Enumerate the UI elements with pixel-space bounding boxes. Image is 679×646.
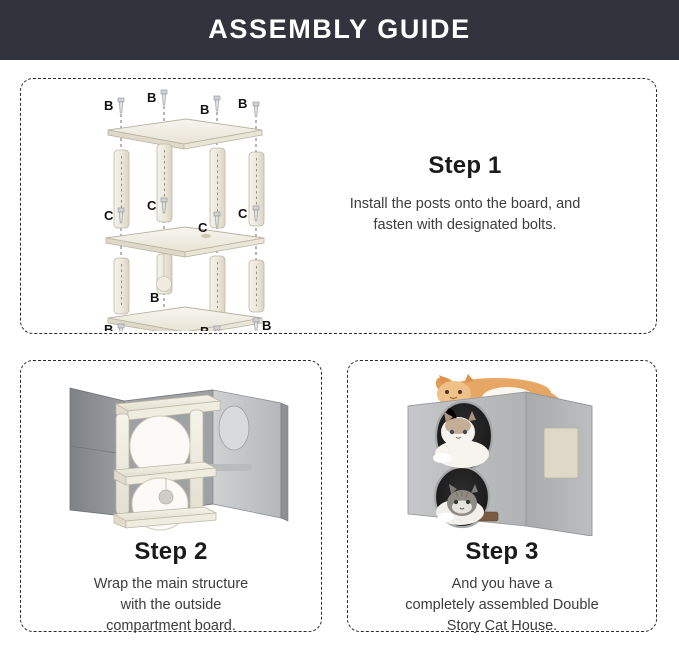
- page-title: ASSEMBLY GUIDE: [208, 14, 470, 45]
- step-1-title: Step 1: [300, 152, 630, 180]
- step-2-caption: Step 2 Wrap the main structure with the …: [32, 538, 310, 637]
- cat-house-side: [526, 392, 592, 536]
- step-3-figure: [376, 366, 628, 536]
- step-1-description: Install the posts onto the board, and fa…: [300, 194, 630, 236]
- top-board: [108, 119, 262, 149]
- step-3-caption: Step 3 And you have a completely assembl…: [358, 538, 646, 637]
- step-2-description-line: with the outside: [32, 595, 310, 616]
- bolt-label-b: B: [200, 102, 209, 117]
- step-3-description: And you have a completely assembled Doub…: [358, 574, 646, 637]
- bolt-label-c: C: [104, 208, 114, 223]
- bolt-label-b: B: [238, 96, 247, 111]
- bolt-label-b: B: [104, 322, 113, 331]
- bolt-label-b: B: [147, 90, 156, 105]
- middle-board: [106, 227, 264, 257]
- step-2-figure: [38, 368, 306, 533]
- screw-icon: [253, 102, 259, 117]
- step-2-description: Wrap the main structure with the outside…: [32, 574, 310, 637]
- step-1-description-line: Install the posts onto the board, and: [300, 194, 630, 215]
- header-divider: [0, 58, 679, 60]
- step-2-title: Step 2: [32, 538, 310, 566]
- screw-icon: [214, 326, 220, 331]
- step-2-description-line: compartment board.: [32, 616, 310, 637]
- step-3-description-line: Story Cat House.: [358, 616, 646, 637]
- step-3-description-line: completely assembled Double: [358, 595, 646, 616]
- bolt-label-b: B: [200, 324, 209, 331]
- bolt-label-b: B: [104, 98, 113, 113]
- bolt-label-c: C: [238, 206, 248, 221]
- screw-icon: [161, 90, 167, 105]
- step-3-title: Step 3: [358, 538, 646, 566]
- posts-lower: [114, 254, 264, 314]
- bolt-group-top-b: B B B B: [104, 90, 259, 117]
- step-1-description-line: fasten with designated bolts.: [300, 215, 630, 236]
- bolt-label-b: B: [262, 318, 271, 331]
- screw-icon: [214, 96, 220, 111]
- step-1-figure: B B B B C: [86, 86, 276, 331]
- scratching-pad: [544, 428, 578, 478]
- bolt-label-c: C: [147, 198, 157, 213]
- screw-icon: [118, 324, 124, 331]
- bottom-board: [108, 307, 262, 331]
- step-2-description-line: Wrap the main structure: [32, 574, 310, 595]
- bolt-label-b: B: [150, 290, 159, 305]
- screw-icon: [118, 98, 124, 113]
- step-3-description-line: And you have a: [358, 574, 646, 595]
- step-1-caption: Step 1 Install the posts onto the board,…: [300, 152, 630, 236]
- header-bar: ASSEMBLY GUIDE: [0, 0, 679, 58]
- bolt-label-c: C: [198, 220, 208, 235]
